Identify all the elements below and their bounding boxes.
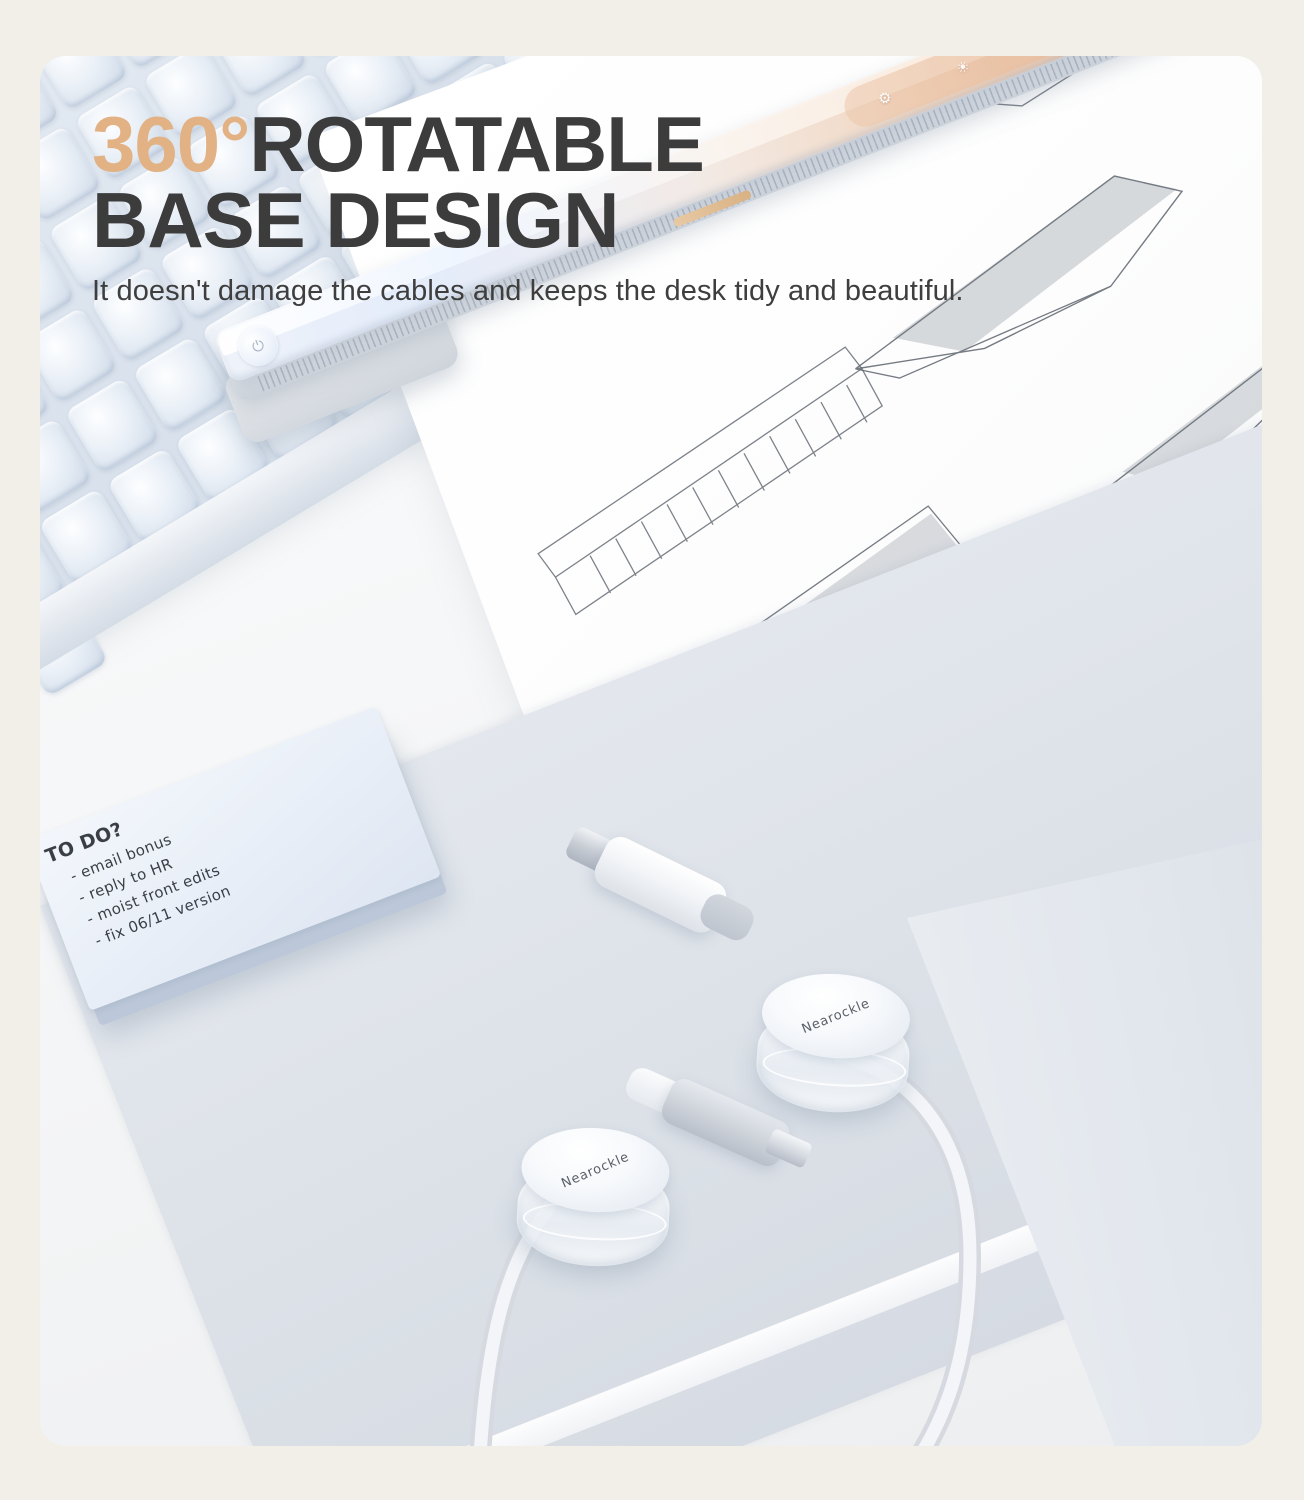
cable-clip-upper: Nearockle xyxy=(753,969,914,1119)
sub-headline: It doesn't damage the cables and keeps t… xyxy=(92,275,1242,308)
headline-line-2: BASE DESIGN xyxy=(92,181,1242,261)
brand-label: Nearockle xyxy=(800,996,873,1037)
cable-clip-lower: Nearockle xyxy=(514,1124,673,1272)
brand-label: Nearockle xyxy=(559,1149,631,1191)
headline-block: 360°ROTATABLE BASE DESIGN It doesn't dam… xyxy=(92,108,1242,308)
photo-canvas: ⏻ ⚙ ☀ ◐ ⏻ TO DO? - email bonus - reply t… xyxy=(40,56,1262,1446)
headline-line-1-rest: ROTATABLE xyxy=(249,100,704,188)
product-banner-image: ⏻ ⚙ ☀ ◐ ⏻ TO DO? - email bonus - reply t… xyxy=(0,0,1304,1500)
headline-highlight: 360° xyxy=(92,100,249,188)
gear-icon: ⚙ xyxy=(876,89,894,108)
brightness-icon: ☀ xyxy=(954,58,972,77)
headline-line-1: 360°ROTATABLE xyxy=(92,108,1242,181)
